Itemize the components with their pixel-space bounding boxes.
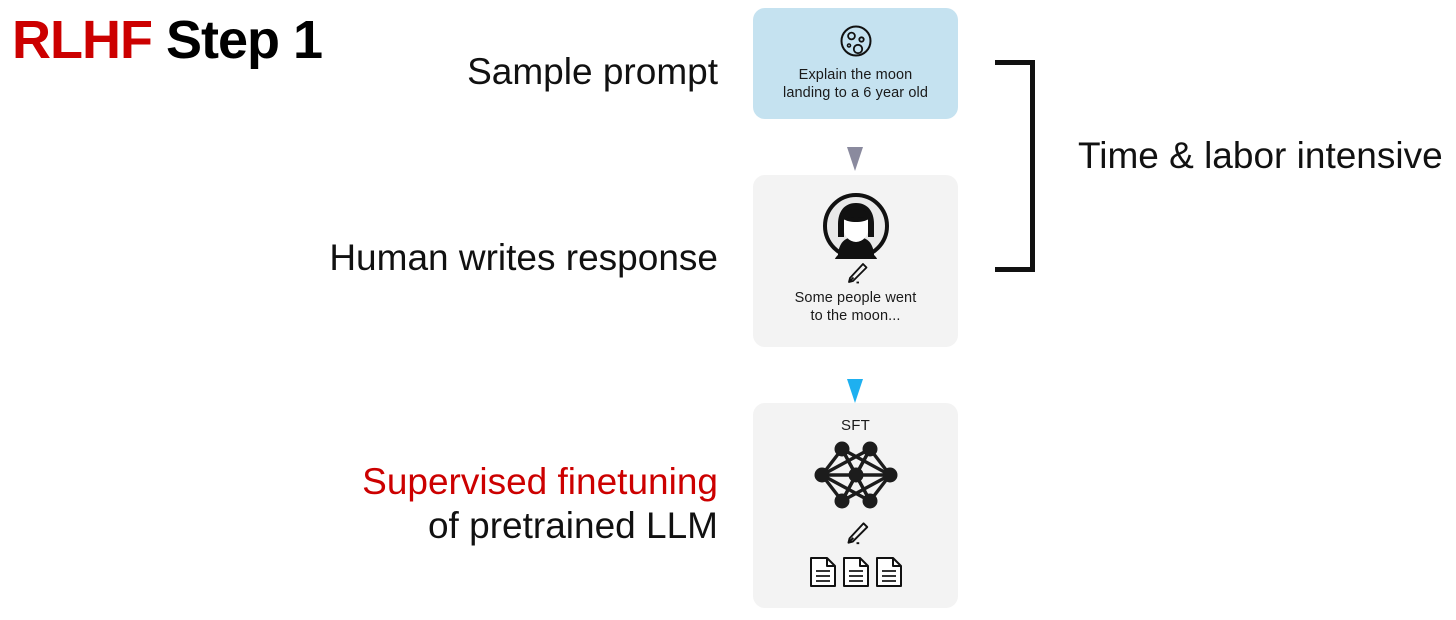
page-title-highlight: RLHF <box>12 10 152 70</box>
document-icon-group <box>809 556 903 588</box>
right-bracket <box>995 60 1035 272</box>
neural-network-icon <box>808 436 904 514</box>
response-card-text: Some people went to the moon... <box>795 289 917 325</box>
pencil-icon <box>842 261 870 285</box>
stage-label-sample-prompt: Sample prompt <box>467 50 718 94</box>
sft-card: SFT <box>753 403 958 608</box>
arrow-prompt-to-response <box>844 146 866 172</box>
annotation-time-labor-intensive: Time & labor intensive <box>1078 134 1443 178</box>
stage-label-sft-line1: Supervised finetuning <box>362 460 718 504</box>
prompt-card-text: Explain the moon landing to a 6 year old <box>783 66 928 102</box>
response-card-text-line1: Some people went <box>795 289 917 307</box>
prompt-card-text-line1: Explain the moon <box>783 66 928 84</box>
document-icon <box>875 556 903 588</box>
arrow-response-to-sft <box>844 378 866 404</box>
pencil-icon <box>841 520 871 546</box>
page-title-rest: Step 1 <box>166 10 322 70</box>
response-card: Some people went to the moon... <box>753 175 958 347</box>
document-icon <box>842 556 870 588</box>
sft-card-heading: SFT <box>841 417 870 434</box>
page-title: RLHF Step 1 <box>12 8 322 73</box>
prompt-card-text-line2: landing to a 6 year old <box>783 84 928 102</box>
person-avatar-icon <box>823 193 889 259</box>
stage-label-sft-line2: of pretrained LLM <box>362 504 718 548</box>
stage-label-human-writes-response: Human writes response <box>329 236 718 280</box>
prompt-card: Explain the moon landing to a 6 year old <box>753 8 958 119</box>
response-card-text-line2: to the moon... <box>795 307 917 325</box>
document-icon <box>809 556 837 588</box>
moon-icon <box>839 24 873 58</box>
stage-label-supervised-finetuning: Supervised finetuning of pretrained LLM <box>362 460 718 548</box>
